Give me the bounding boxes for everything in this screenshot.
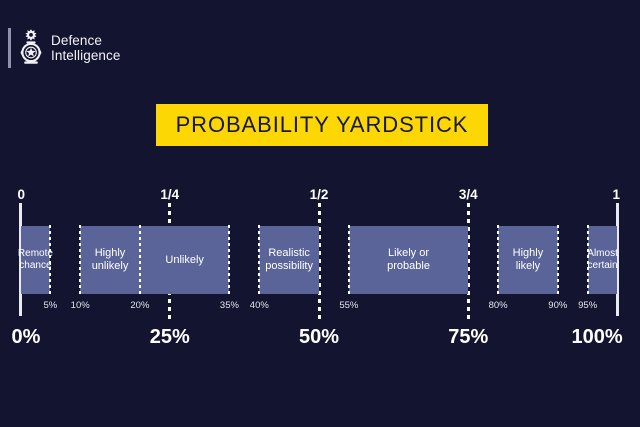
probability-band: Highly unlikely — [80, 226, 140, 294]
fraction-tick-label: 0 — [18, 188, 26, 202]
fraction-tick-label: 3/4 — [456, 188, 480, 202]
probability-band: Highly likely — [498, 226, 558, 294]
probability-band: Almost certain — [588, 226, 618, 294]
band-edge-marker — [348, 225, 350, 295]
minor-percent-label: 20% — [122, 300, 158, 311]
probability-band: Unlikely — [140, 226, 230, 294]
probability-band: Remote chance — [21, 226, 51, 294]
band-label: Likely or probable — [385, 247, 432, 273]
minor-percent-label: 40% — [241, 300, 277, 311]
major-percent-label: 25% — [140, 326, 200, 348]
band-label: Highly likely — [511, 247, 546, 273]
band-edge-marker — [258, 225, 260, 295]
major-percent-label: 100% — [572, 326, 623, 348]
band-edge-marker — [497, 225, 499, 295]
minor-percent-label: 55% — [331, 300, 367, 311]
probability-band: Realistic possibility — [259, 226, 319, 294]
fraction-tick-label: 1 — [613, 188, 621, 202]
major-percent-label: 50% — [289, 326, 349, 348]
band-label: Unlikely — [163, 254, 206, 267]
band-edge-marker — [228, 225, 230, 295]
minor-percent-label: 10% — [62, 300, 98, 311]
band-edge-marker — [49, 225, 51, 295]
major-percent-label: 75% — [438, 326, 498, 348]
minor-percent-label: 95% — [570, 300, 606, 311]
band-label: Almost certain — [585, 248, 620, 272]
probability-yardstick: 01/41/23/41Remote chanceHighly unlikelyU… — [0, 0, 640, 427]
band-edge-marker — [557, 225, 559, 295]
major-percent-label: 0% — [12, 326, 41, 348]
band-label: Highly unlikely — [90, 247, 131, 273]
band-label: Realistic possibility — [263, 247, 315, 273]
band-edge-marker — [79, 225, 81, 295]
fraction-tick-label: 1/4 — [158, 188, 182, 202]
band-edge-marker — [139, 225, 141, 295]
fraction-tick-label: 1/2 — [307, 188, 331, 202]
probability-band: Likely or probable — [349, 226, 468, 294]
band-edge-marker — [587, 225, 589, 295]
minor-percent-label: 80% — [480, 300, 516, 311]
